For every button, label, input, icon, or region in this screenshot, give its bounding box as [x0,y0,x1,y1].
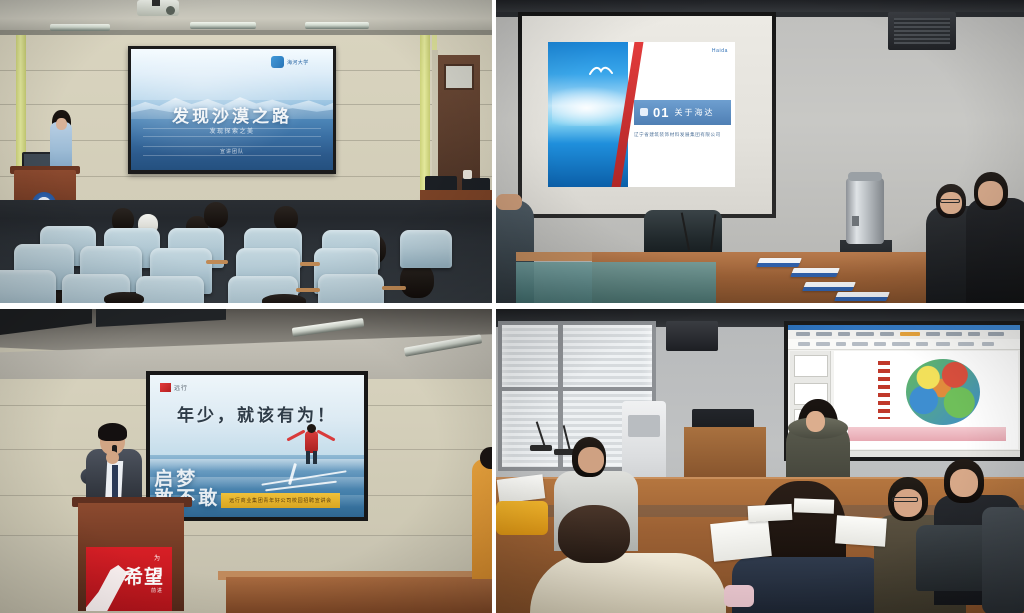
seagull-icon [589,65,613,79]
boiler-lid [848,172,882,181]
slide-ribbon-text: 远行商业集团青年好公司校园招聘宣讲会 [229,497,332,504]
table-glass-surface [516,262,716,303]
ceiling-light [190,22,256,29]
projector-mount [152,0,160,6]
pink-item [724,585,754,607]
window-mullion [498,387,656,391]
slide-logo-mark [160,383,171,392]
office-chair [982,507,1024,613]
paper-cup [463,170,472,179]
slide-logo-text: 远行 [174,383,188,392]
speaker-hair [98,423,127,441]
attendee-face [940,192,962,214]
student-body [732,557,884,613]
seating-area [0,200,492,303]
brochure [790,268,840,277]
slide-section-banner: 01 关于海达 [634,100,731,125]
door-window [444,64,474,90]
projected-slide: Haida 01 关于海达 辽宁省建筑装饰材料发展集团有限公司 [548,42,735,187]
attendee-left-hand [496,194,522,210]
slide-logo-text: Haida [712,48,728,54]
slide-footer-bar [848,427,1006,441]
wall-seam [0,535,492,536]
slide-section-heading: 关于海达 [674,107,714,118]
handout [748,504,793,522]
handout [794,498,834,513]
banner-icon [640,108,648,116]
audience-head [204,202,228,228]
projection-screen: 远行 年少，就该有为！ 启梦 敢不敢 远行商业集团青年好公司校 [150,375,364,517]
presenter-face [56,118,67,130]
auditorium-seat [0,270,56,303]
slide-logo: 远行 [160,383,188,392]
speaker-grill [894,18,950,44]
student-face [894,489,922,517]
slide-caption: 辽宁省建筑装饰材料发展集团有限公司 [634,132,731,138]
slide-ribbon: 远行商业集团青年好公司校园招聘宣讲会 [221,493,341,509]
colorful-globe-graphic [906,359,980,425]
water-boiler [846,178,884,244]
eyeglasses-icon [892,497,918,502]
speaker-hand [106,451,119,464]
banner-text-top: 为 [154,553,160,562]
attendee-face [978,181,1003,206]
attendee-face [578,447,604,473]
brochure [834,292,890,301]
person-torso [305,431,318,453]
attendee-face [950,469,978,497]
handout [710,518,772,562]
seat-armrest [206,260,228,264]
brochure [802,282,856,291]
student-head [558,505,630,563]
photo-panel-top-right: Haida 01 关于海达 辽宁省建筑装饰材料发展集团有限公司 [496,0,1024,303]
speaker-tie [112,465,118,497]
podium-banner: 为 希望 前进 [86,547,172,611]
photo-panel-top-left: 海河大学 发现沙漠之路 发现探索之美 宣讲团队 [0,0,492,303]
seat-armrest [296,288,320,292]
handout [835,515,887,546]
slide-canvas [834,351,1018,449]
audience-head [262,294,306,303]
yellow-bag [496,501,548,535]
slide-thumbnail[interactable] [794,355,828,377]
air-conditioner-vent [628,415,660,437]
wooden-table [226,577,492,613]
projector-lens-icon [166,6,175,15]
attendee-body [966,198,1024,303]
banner-text-bottom: 前进 [151,587,163,594]
attendee-body [472,459,492,579]
photo-panel-bottom-right [496,309,1024,613]
ceiling-light [50,24,110,31]
seat-armrest [382,286,406,290]
ceiling-light [305,22,369,29]
student-body [530,553,726,613]
banner-text-main: 希望 [124,562,164,589]
photo-panel-bottom-left: 远行 年少，就该有为！ 启梦 敢不敢 远行商业集团青年好公司校 [0,309,492,613]
person-on-boat [288,423,334,467]
auditorium-seat [400,230,452,268]
slide-title: 年少，就该有为！ [150,401,364,426]
slide-big-line1: 启梦 [154,470,220,489]
brochure [756,258,802,267]
vertical-text-block [878,361,890,419]
presenter-face [806,411,825,432]
wall-speaker [666,321,718,351]
seat-armrest [300,262,320,266]
microphone-base [530,445,552,451]
boiler-tap [852,216,859,226]
photo-collage: 海河大学 发现沙漠之路 发现探索之美 宣讲团队 [0,0,1024,613]
audience-head [104,292,144,303]
slide-section-number: 01 [653,105,669,120]
eyeglasses-icon [940,199,960,203]
auditorium-seat [318,274,384,303]
auditorium-seat [136,276,204,303]
screen-glare [131,49,333,170]
